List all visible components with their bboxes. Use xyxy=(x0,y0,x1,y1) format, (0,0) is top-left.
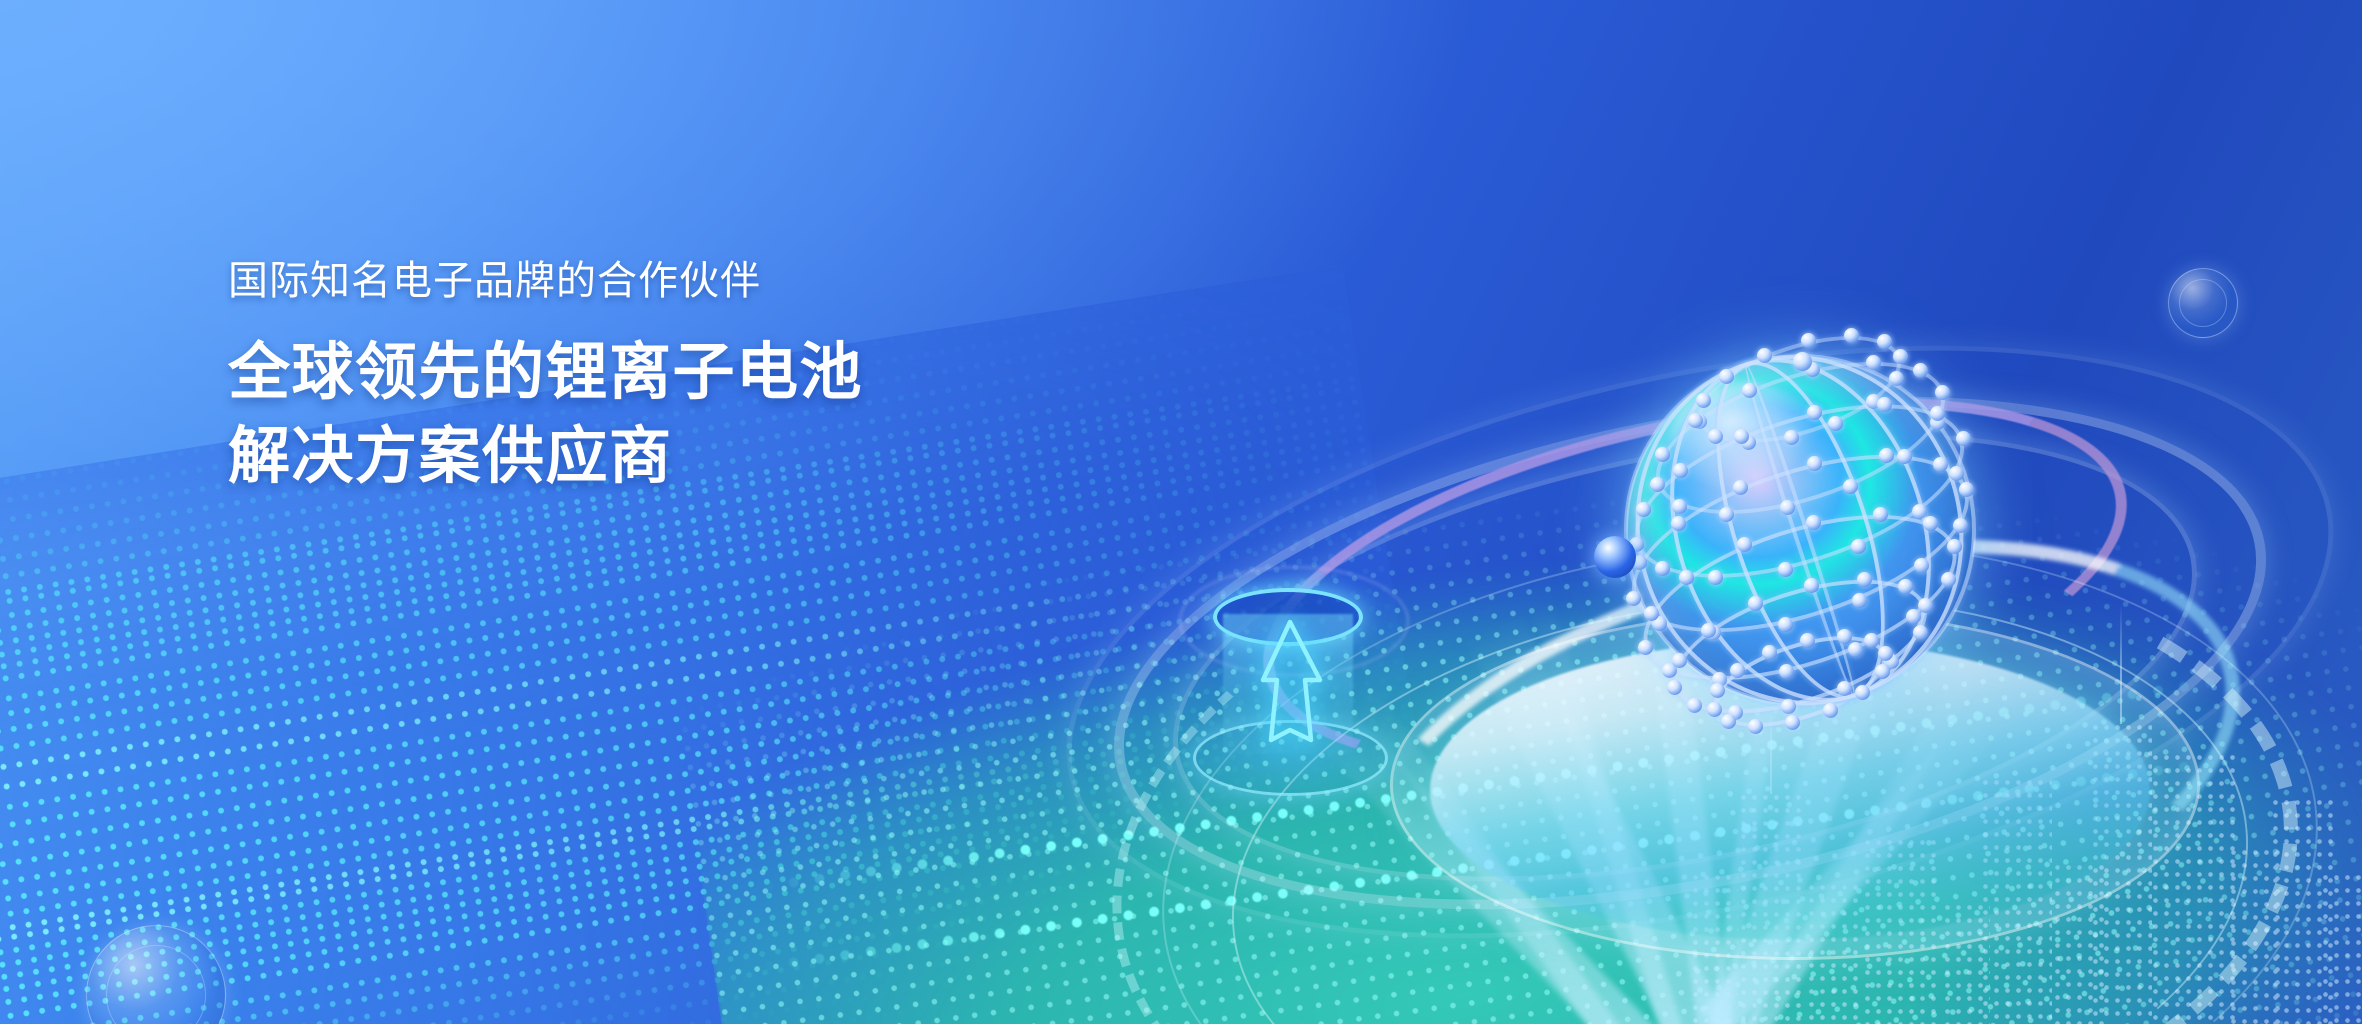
banner-subtitle: 国际知名电子品牌的合作伙伴 xyxy=(228,258,1228,305)
copy-block: 国际知名电子品牌的合作伙伴 全球领先的锂离子电池 解决方案供应商 xyxy=(228,258,1228,499)
globe-accent-node xyxy=(1594,536,1636,578)
bubble-top-right xyxy=(2168,268,2238,338)
banner-headline: 全球领先的锂离子电池 解决方案供应商 xyxy=(228,331,1228,499)
light-portal xyxy=(1185,580,1415,810)
headline-line-1: 全球领先的锂离子电池 xyxy=(228,331,1228,415)
bubble-bottom-left xyxy=(86,925,226,1024)
headline-line-2: 解决方案供应商 xyxy=(228,415,1228,499)
hero-banner: 国际知名电子品牌的合作伙伴 全球领先的锂离子电池 解决方案供应商 xyxy=(0,0,2362,1024)
wireframe-globe xyxy=(1600,330,2000,730)
up-arrow-icon xyxy=(1185,580,1415,810)
